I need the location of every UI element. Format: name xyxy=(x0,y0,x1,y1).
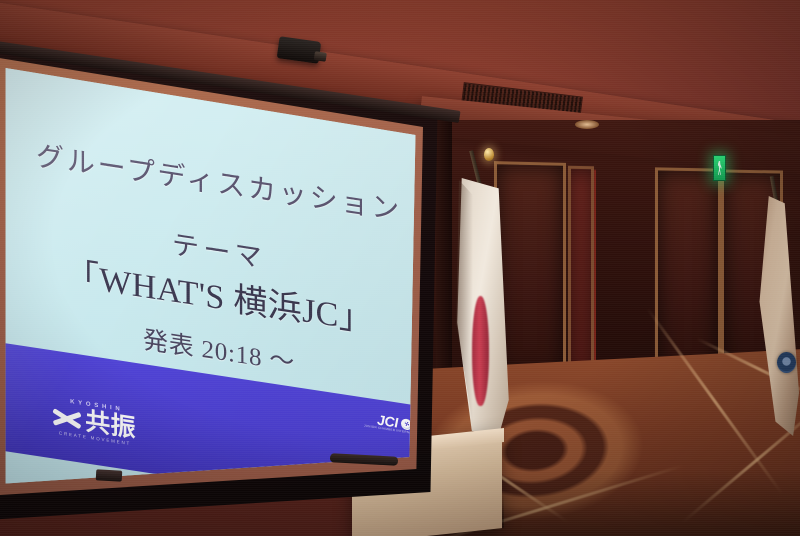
exit-sign xyxy=(713,155,726,181)
door-panel-2[interactable] xyxy=(568,166,594,381)
downlight xyxy=(575,120,599,129)
door-panel-3[interactable] xyxy=(655,167,721,380)
flag-finial-icon xyxy=(484,148,494,161)
screen-frame-clip xyxy=(96,469,123,481)
japan-flag-sun-disc xyxy=(472,296,489,406)
crossed-bars-icon xyxy=(54,405,80,431)
door-panel-dark[interactable] xyxy=(596,164,654,381)
photo-scene: グループディスカッション テーマ 「WHAT'S 横浜JC」 発表 20:18 … xyxy=(0,0,800,536)
running-person-icon xyxy=(718,161,722,175)
jci-flag-emblem-icon xyxy=(777,352,796,373)
projection-screen[interactable]: グループディスカッション テーマ 「WHAT'S 横浜JC」 発表 20:18 … xyxy=(0,22,454,522)
